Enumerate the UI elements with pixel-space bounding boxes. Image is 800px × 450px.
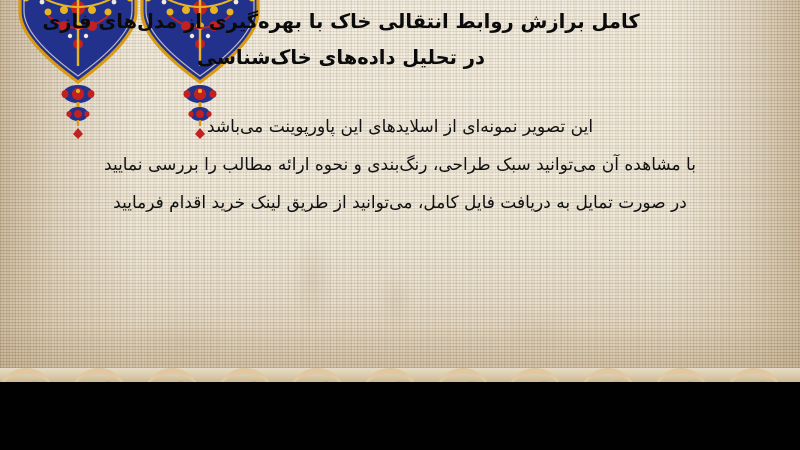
body-line-1: این تصویر نمونه‌ای از اسلایدهای این پاور… — [0, 108, 800, 146]
black-backdrop — [0, 382, 800, 450]
body-line-2: با مشاهده آن می‌توانید سبک طراحی، رنگ‌بن… — [0, 146, 800, 184]
body-line-3: در صورت تمایل به دریافت فایل کامل، می‌تو… — [0, 184, 800, 222]
slide-title-line-2: در تحلیل داده‌های خاک‌شناسی — [0, 40, 800, 76]
slide-title: کامل برازش روابط انتقالی خاک با بهره‌گیر… — [0, 4, 800, 76]
slide-title-line-1: کامل برازش روابط انتقالی خاک با بهره‌گیر… — [0, 4, 800, 40]
slide-canvas: کامل برازش روابط انتقالی خاک با بهره‌گیر… — [0, 0, 800, 450]
slide-body-text: این تصویر نمونه‌ای از اسلایدهای این پاور… — [0, 108, 800, 222]
